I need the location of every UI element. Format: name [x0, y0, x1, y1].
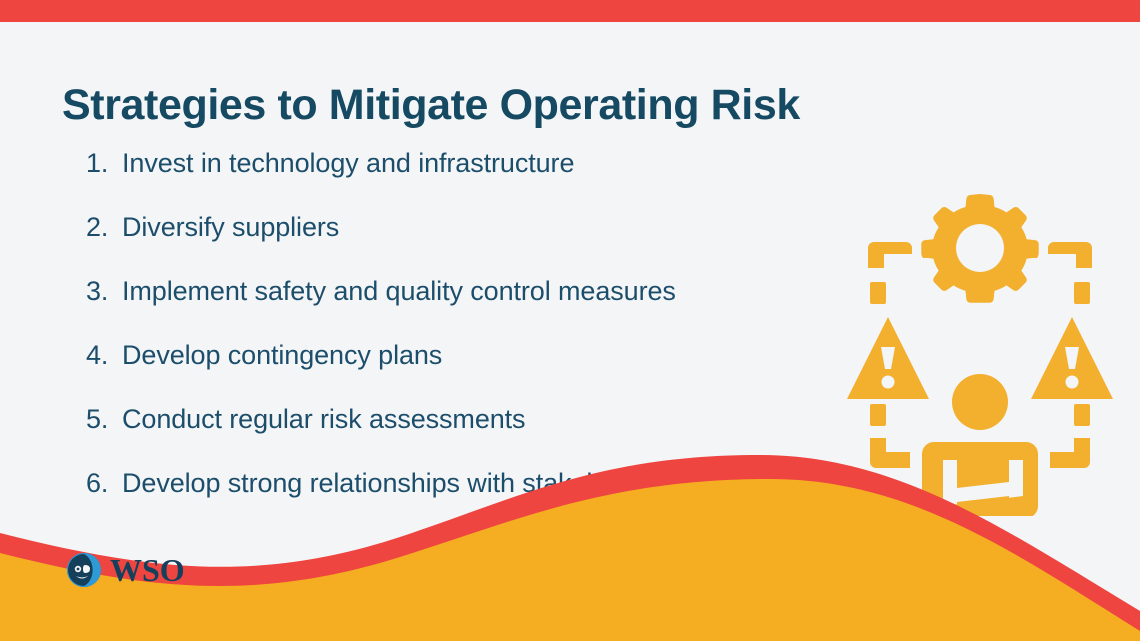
list-item-label: Invest in technology and infrastructure: [122, 148, 846, 179]
list-item-label: Implement safety and quality control mea…: [122, 276, 846, 307]
brand-logo: WSO: [66, 552, 185, 588]
top-accent-bar: [0, 0, 1140, 22]
brand-name: WSO: [110, 554, 185, 586]
warning-triangle-left-icon: [847, 317, 929, 399]
page-title: Strategies to Mitigate Operating Risk: [62, 81, 800, 130]
list-item-number: 3.: [86, 276, 122, 307]
list-item: 4. Develop contingency plans: [86, 340, 846, 404]
list-item-label: Diversify suppliers: [122, 212, 846, 243]
list-item-label: Develop contingency plans: [122, 340, 846, 371]
gear-icon: [921, 194, 1038, 303]
list-item-label: Conduct regular risk assessments: [122, 404, 846, 435]
list-item-number: 1.: [86, 148, 122, 179]
list-item-number: 5.: [86, 404, 122, 435]
globe-icon: [66, 552, 102, 588]
list-item: 1. Invest in technology and infrastructu…: [86, 148, 846, 212]
list-item-number: 2.: [86, 212, 122, 243]
decorative-waves: [0, 441, 1140, 641]
slide-canvas: Strategies to Mitigate Operating Risk 1.…: [0, 0, 1140, 641]
list-item-number: 4.: [86, 340, 122, 371]
list-item: 2. Diversify suppliers: [86, 212, 846, 276]
warning-triangle-right-icon: [1031, 317, 1113, 399]
list-item: 3. Implement safety and quality control …: [86, 276, 846, 340]
